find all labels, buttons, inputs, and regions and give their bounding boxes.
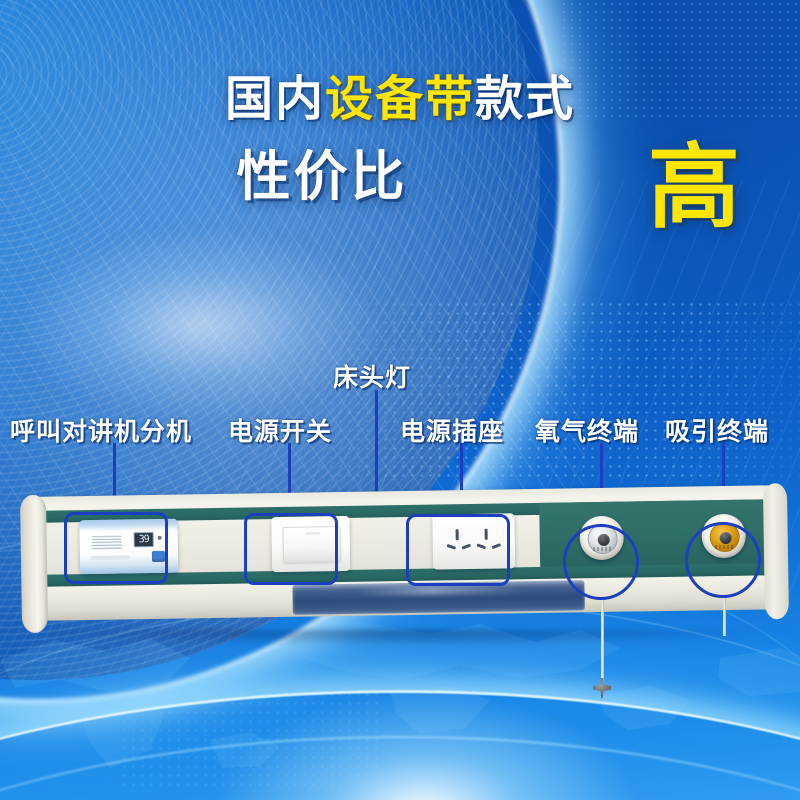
intercom-slot (90, 555, 130, 560)
callout-label-suction-terminal: 吸引终端 (665, 412, 769, 448)
intercom-call-button[interactable] (152, 551, 165, 562)
headline-big-word: 高 (648, 142, 740, 234)
callout-label-intercom: 呼叫对讲机分机 (10, 412, 192, 448)
socket-pin-left (456, 529, 459, 540)
intercom-speaker-grille (91, 534, 122, 549)
suction-hose (723, 596, 726, 636)
oxygen-outlet-marking (593, 547, 613, 551)
panel-end-cap-left (20, 495, 48, 633)
intercom-led-indicator (158, 536, 162, 540)
panel-end-cap-right (763, 483, 789, 619)
callout-label-oxygen-terminal: 氧气终端 (535, 412, 639, 448)
socket-slot-1 (447, 544, 456, 550)
suction-outlet-marking (715, 545, 735, 549)
callout-label-power-socket: 电源插座 (400, 412, 504, 448)
product-banner: 国内设备带款式 性价比 高 呼叫对讲机分机 电源开关 床头灯 电源插座 氧气终端… (0, 0, 800, 800)
horizon-glow (210, 690, 640, 800)
socket-slot-4 (492, 543, 501, 549)
suction-outlet-port (720, 532, 732, 544)
oxygen-hose (601, 600, 604, 682)
callout-label-power-switch: 电源开关 (228, 412, 332, 448)
oxygen-outlet-port (598, 534, 610, 546)
intercom-display: 39 (134, 532, 154, 547)
halftone-dots-top-right (560, 0, 800, 120)
light-switch-icon[interactable] (271, 516, 350, 572)
panel-body: 39 (26, 485, 782, 609)
power-socket-icon[interactable] (432, 513, 515, 569)
bed-lamp-icon[interactable] (292, 580, 584, 615)
socket-slot-2 (462, 544, 471, 550)
medical-equipment-panel: 39 (26, 497, 780, 637)
socket-pin-right (485, 529, 488, 540)
socket-face (432, 513, 515, 569)
switch-rocker[interactable] (283, 526, 342, 563)
callout-label-bed-lamp: 床头灯 (333, 358, 411, 394)
socket-slot-3 (477, 543, 486, 549)
intercom-icon[interactable]: 39 (79, 519, 178, 575)
